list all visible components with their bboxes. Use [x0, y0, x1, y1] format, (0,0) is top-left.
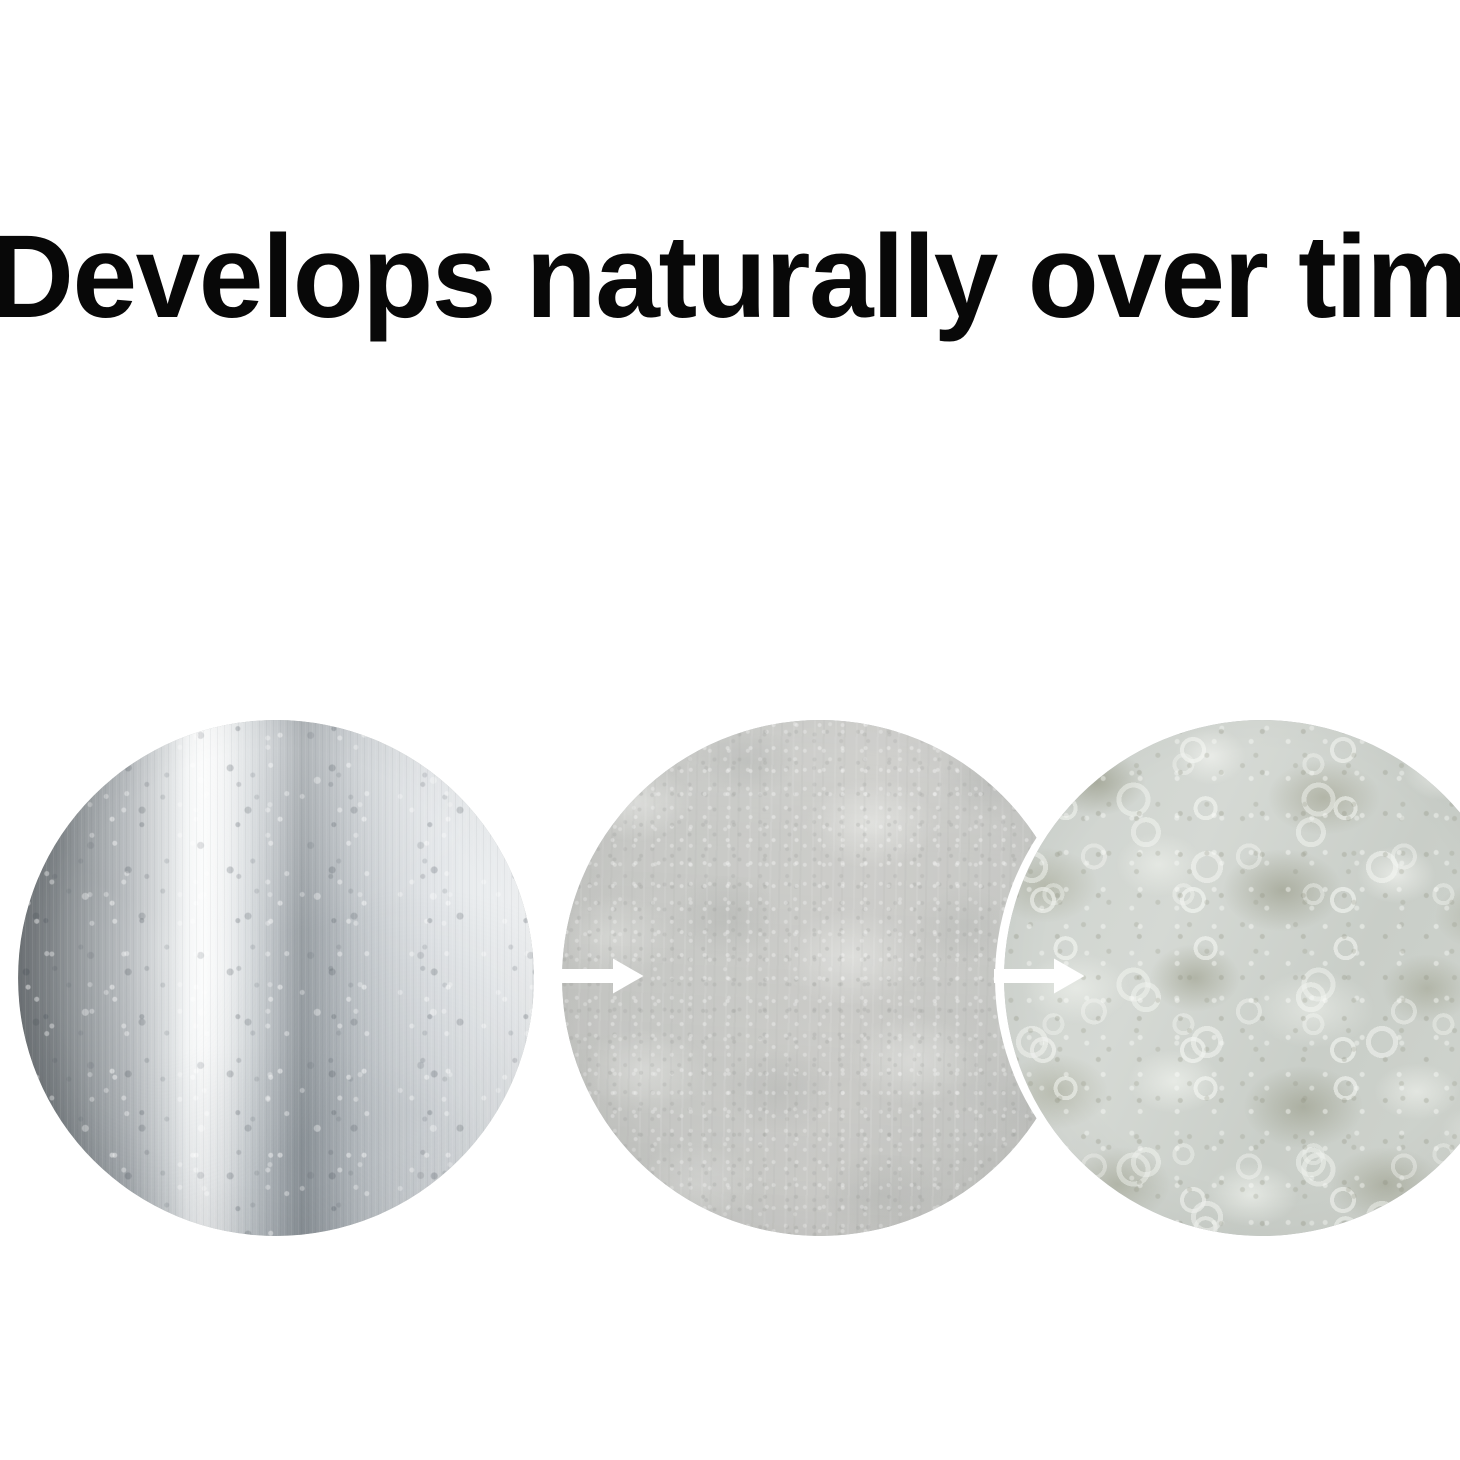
right-arrow-icon: [551, 928, 647, 1024]
slide-canvas: Develops naturally over time: [0, 0, 1460, 1460]
stage-1-circle: [18, 720, 534, 1236]
stage-1-vignette: [18, 720, 534, 1236]
right-arrow-icon: [992, 928, 1088, 1024]
progression-row: [0, 0, 1460, 1460]
